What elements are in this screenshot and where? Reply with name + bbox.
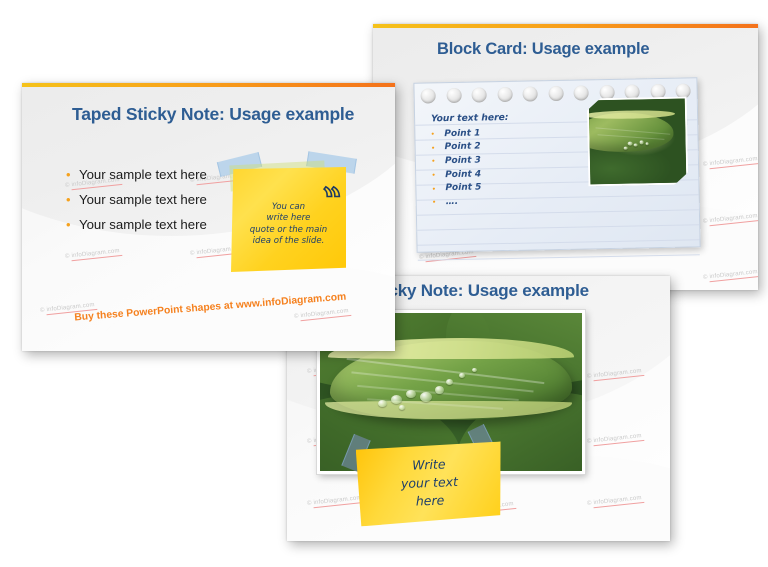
bullet-dot-icon: • xyxy=(66,167,79,183)
sticky-note-line: You can xyxy=(231,202,346,213)
spiral-ring-icon xyxy=(446,88,461,103)
sticky-note-line: here xyxy=(357,489,503,512)
notepad-point-text: Point 4 xyxy=(445,169,481,180)
spiral-ring-icon xyxy=(573,85,588,100)
sticky-note-write-your-text[interactable]: Writeyour texthere xyxy=(356,441,504,526)
spiral-ring-icon xyxy=(471,87,486,102)
bullet-item: •Your sample text here xyxy=(66,192,241,208)
bullet-text: Your sample text here xyxy=(79,192,207,208)
bullet-dot-icon: • xyxy=(66,192,79,208)
sticky-note-line: idea of the slide. xyxy=(231,236,346,247)
bullet-dot-icon: • xyxy=(432,184,445,193)
bullet-dot-icon: • xyxy=(433,197,446,206)
slide-block-card[interactable]: Block Card: Usage example © infoDiagram.… xyxy=(373,24,758,290)
notepad-block-card[interactable]: Your text here: •Point 1•Point 2•Point 3… xyxy=(413,77,700,252)
slide1-accent-bar xyxy=(22,83,395,87)
notepad-point-text: Point 5 xyxy=(445,183,481,194)
notepad-point-text: Point 2 xyxy=(445,142,481,153)
bullet-item: •Your sample text here xyxy=(66,217,241,233)
slide-taped-sticky-note[interactable]: Taped Sticky Note: Usage example © infoD… xyxy=(22,83,395,351)
notepad-point-text: Point 1 xyxy=(444,128,480,139)
sticky-note-text: Writeyour texthere xyxy=(356,453,503,511)
bullet-dot-icon: • xyxy=(432,170,445,179)
spiral-ring-icon xyxy=(497,87,512,102)
quote-mark-icon: ” xyxy=(322,163,340,203)
sticky-note-line: quote or the main xyxy=(231,225,346,236)
slide2-accent-bar xyxy=(373,24,758,28)
spiral-ring-icon xyxy=(548,86,563,101)
notepad-photo xyxy=(587,96,689,186)
spiral-ring-icon xyxy=(624,84,639,99)
slide1-bullet-list: •Your sample text here•Your sample text … xyxy=(66,167,241,242)
spiral-ring-icon xyxy=(421,88,436,103)
leaf-image xyxy=(589,99,687,185)
sticky-note-quote[interactable]: ” You canwrite herequote or the mainidea… xyxy=(231,167,346,272)
spiral-ring-icon xyxy=(650,84,665,99)
bullet-dot-icon: • xyxy=(432,157,445,166)
bullet-dot-icon: • xyxy=(66,217,79,233)
slide1-title: Taped Sticky Note: Usage example xyxy=(72,104,354,125)
bullet-text: Your sample text here xyxy=(79,217,207,233)
spiral-ring-icon xyxy=(522,86,537,101)
slides-canvas: Block Card: Usage example © infoDiagram.… xyxy=(0,0,768,567)
bullet-item: •Your sample text here xyxy=(66,167,241,183)
spiral-ring-icon xyxy=(599,85,614,100)
notepad-point-text: …. xyxy=(446,197,459,207)
bullet-dot-icon: • xyxy=(431,129,444,138)
sticky-note-line: write here xyxy=(231,213,346,224)
slide2-title: Block Card: Usage example xyxy=(437,40,649,59)
sticky-note-text: You canwrite herequote or the mainidea o… xyxy=(231,202,346,247)
spiral-ring-icon xyxy=(675,83,690,98)
bullet-text: Your sample text here xyxy=(79,167,207,183)
bullet-dot-icon: • xyxy=(432,143,445,152)
notepad-point-text: Point 3 xyxy=(445,155,481,166)
